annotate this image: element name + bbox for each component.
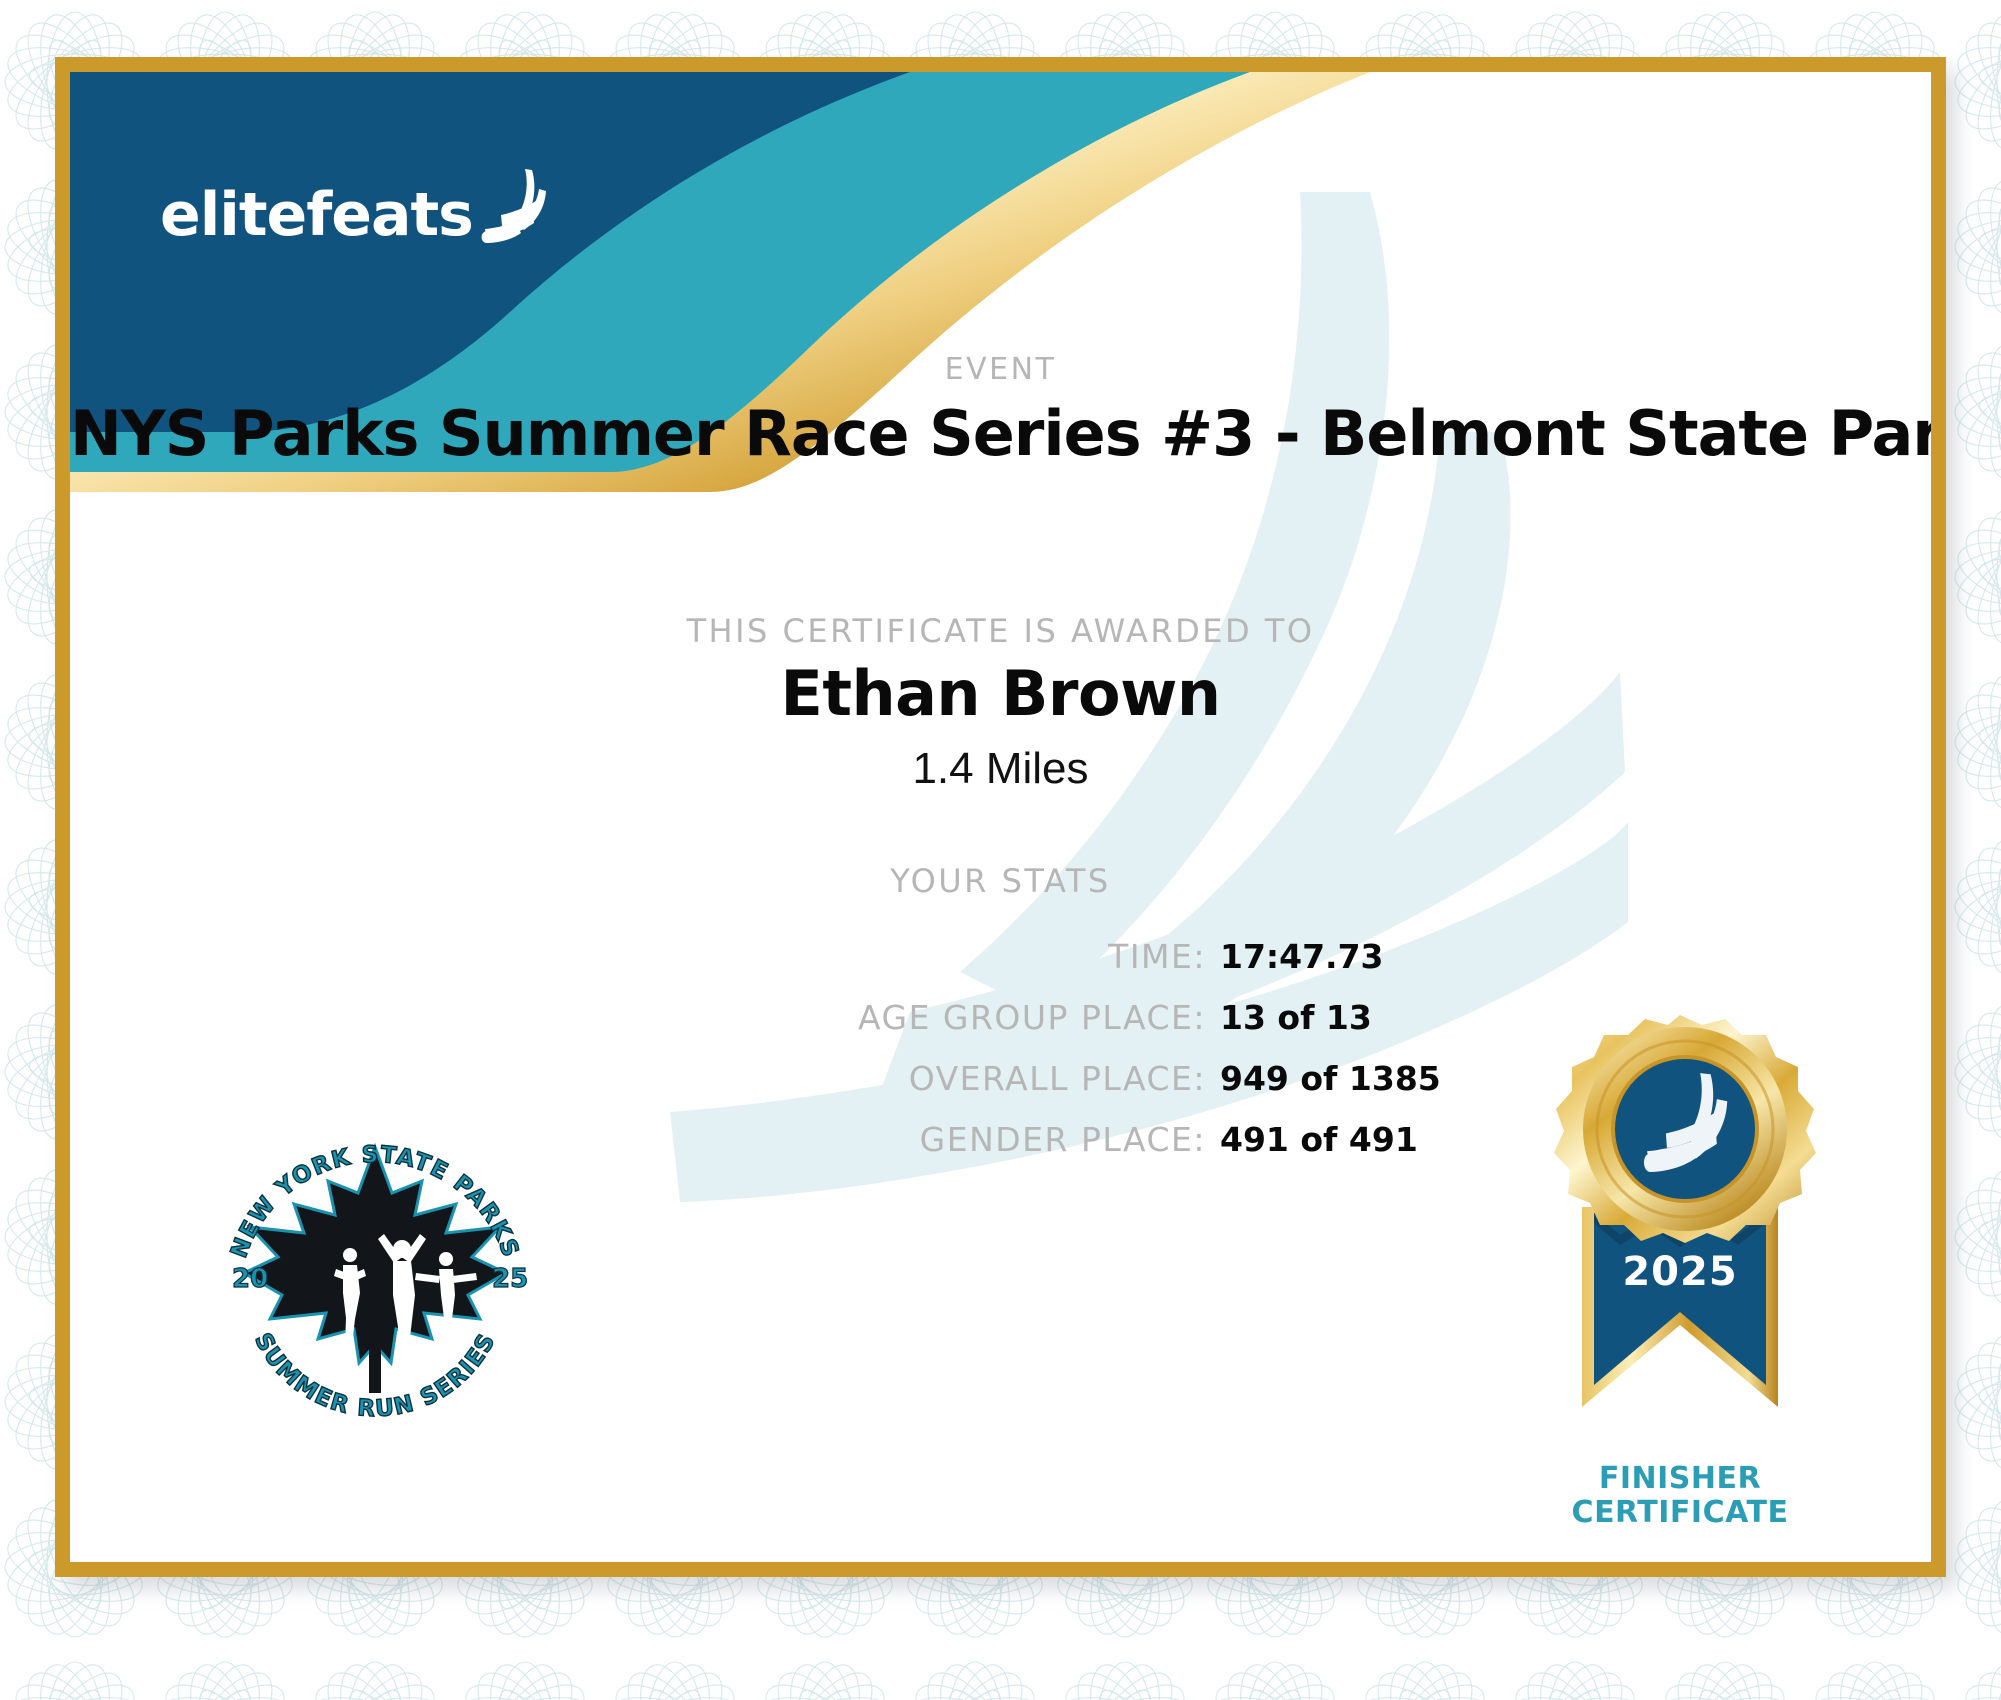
logo-year-right: 25 — [492, 1264, 528, 1294]
finisher-caption-line2: CERTIFICATE — [1510, 1496, 1850, 1530]
recipient-name: Ethan Brown — [70, 657, 1931, 730]
stat-key: GENDER PLACE: — [920, 1120, 1206, 1159]
elitefeats-logo: elitefeats — [160, 167, 551, 245]
ribbon-year: 2025 — [1622, 1249, 1737, 1295]
awarded-to-label: THIS CERTIFICATE IS AWARDED TO — [70, 612, 1931, 650]
finisher-caption: FINISHER CERTIFICATE — [1510, 1462, 1850, 1529]
stat-key: AGE GROUP PLACE: — [858, 998, 1206, 1037]
stat-row-time: TIME: 17:47.73 — [70, 937, 1450, 976]
event-title: NYS Parks Summer Race Series #3 - Belmon… — [70, 397, 1931, 470]
certificate-card: elitefeats EVENT NYS Parks Summer Race S… — [55, 57, 1946, 1577]
your-stats-label: YOUR STATS — [70, 862, 1931, 900]
nys-parks-summer-run-series-logo: NEW YORK STATE PARKS SUMMER RUN SERIES 2… — [210, 1107, 540, 1437]
stat-row-age-group-place: AGE GROUP PLACE: 13 of 13 — [70, 998, 1450, 1037]
stat-value: 17:47.73 — [1220, 937, 1450, 976]
stat-value: 13 of 13 — [1220, 998, 1450, 1037]
distance-text: 1.4 Miles — [70, 744, 1931, 794]
event-label: EVENT — [70, 352, 1931, 387]
stat-key: OVERALL PLACE: — [909, 1059, 1206, 1098]
finisher-caption-line1: FINISHER — [1510, 1462, 1850, 1496]
stat-value: 491 of 491 — [1220, 1120, 1450, 1159]
gold-medallion-icon — [1554, 1015, 1816, 1243]
finisher-ribbon-badge: 2025 — [1510, 1007, 1850, 1487]
logo-year-left: 20 — [232, 1264, 268, 1294]
brand-wordmark: elitefeats — [160, 185, 473, 245]
stat-key: TIME: — [1108, 937, 1206, 976]
stat-value: 949 of 1385 — [1220, 1059, 1450, 1098]
stat-row-overall-place: OVERALL PLACE: 949 of 1385 — [70, 1059, 1450, 1098]
certificate-page: elitefeats EVENT NYS Parks Summer Race S… — [0, 0, 2001, 1700]
winged-foot-icon — [477, 167, 551, 245]
